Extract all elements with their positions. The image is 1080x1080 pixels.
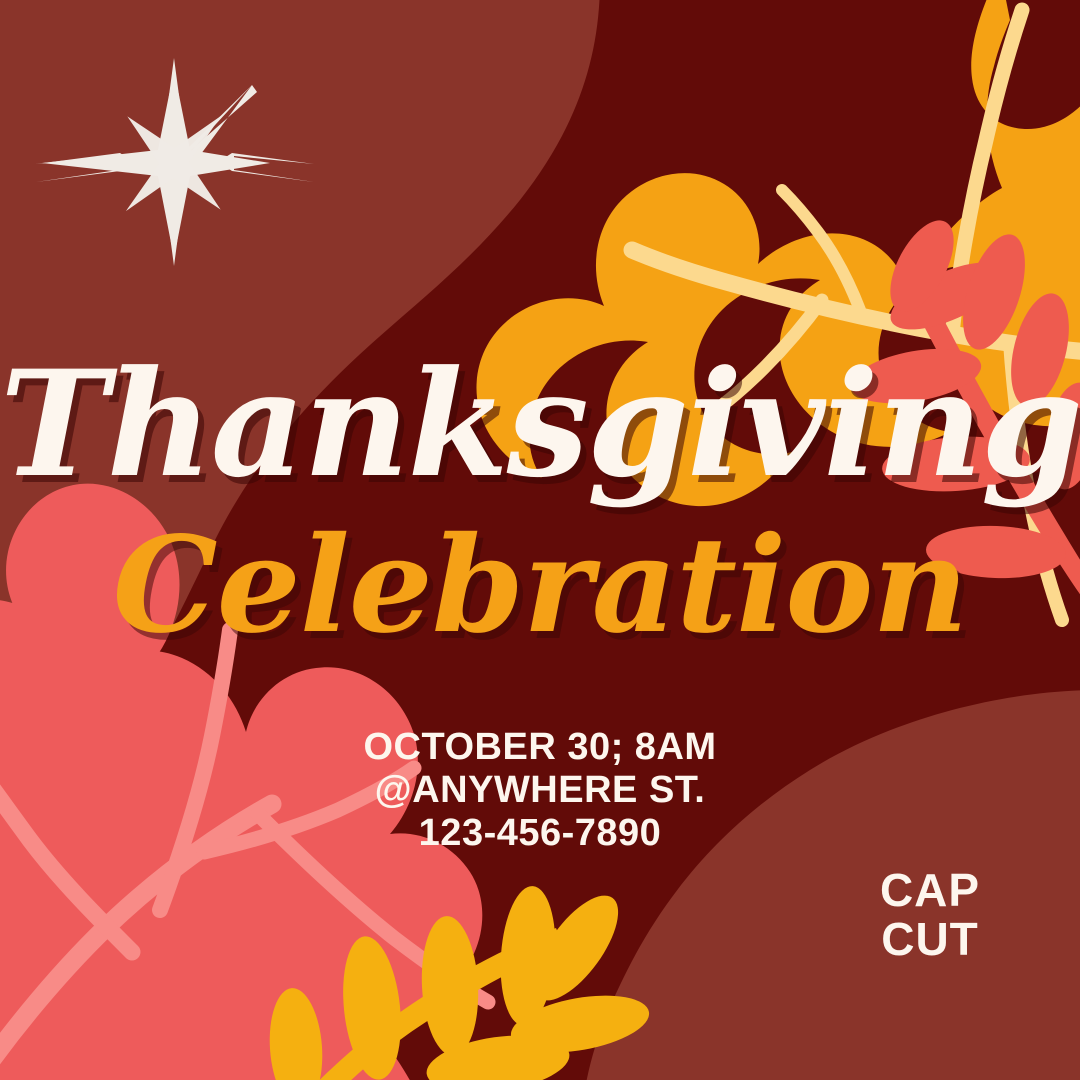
capcut-line-cut: CUT — [865, 915, 995, 964]
headline-thanksgiving: Thanksgiving — [0, 352, 1080, 498]
event-detail-datetime: OCTOBER 30; 8AM — [0, 726, 1080, 769]
poster-canvas: Thanksgiving Celebration OCTOBER 30; 8AM… — [0, 0, 1080, 1080]
fern-sprig-yellow — [266, 883, 654, 1080]
sparkle-star-icon — [36, 58, 314, 266]
headline-celebration: Celebration — [0, 520, 1080, 652]
event-detail-address: @ANYWHERE ST. — [0, 769, 1080, 812]
event-details: OCTOBER 30; 8AM @ANYWHERE ST. 123-456-78… — [0, 726, 1080, 855]
capcut-line-cap: CAP — [865, 866, 995, 915]
event-detail-phone: 123-456-7890 — [0, 812, 1080, 855]
capcut-watermark: CAP CUT — [865, 866, 995, 964]
